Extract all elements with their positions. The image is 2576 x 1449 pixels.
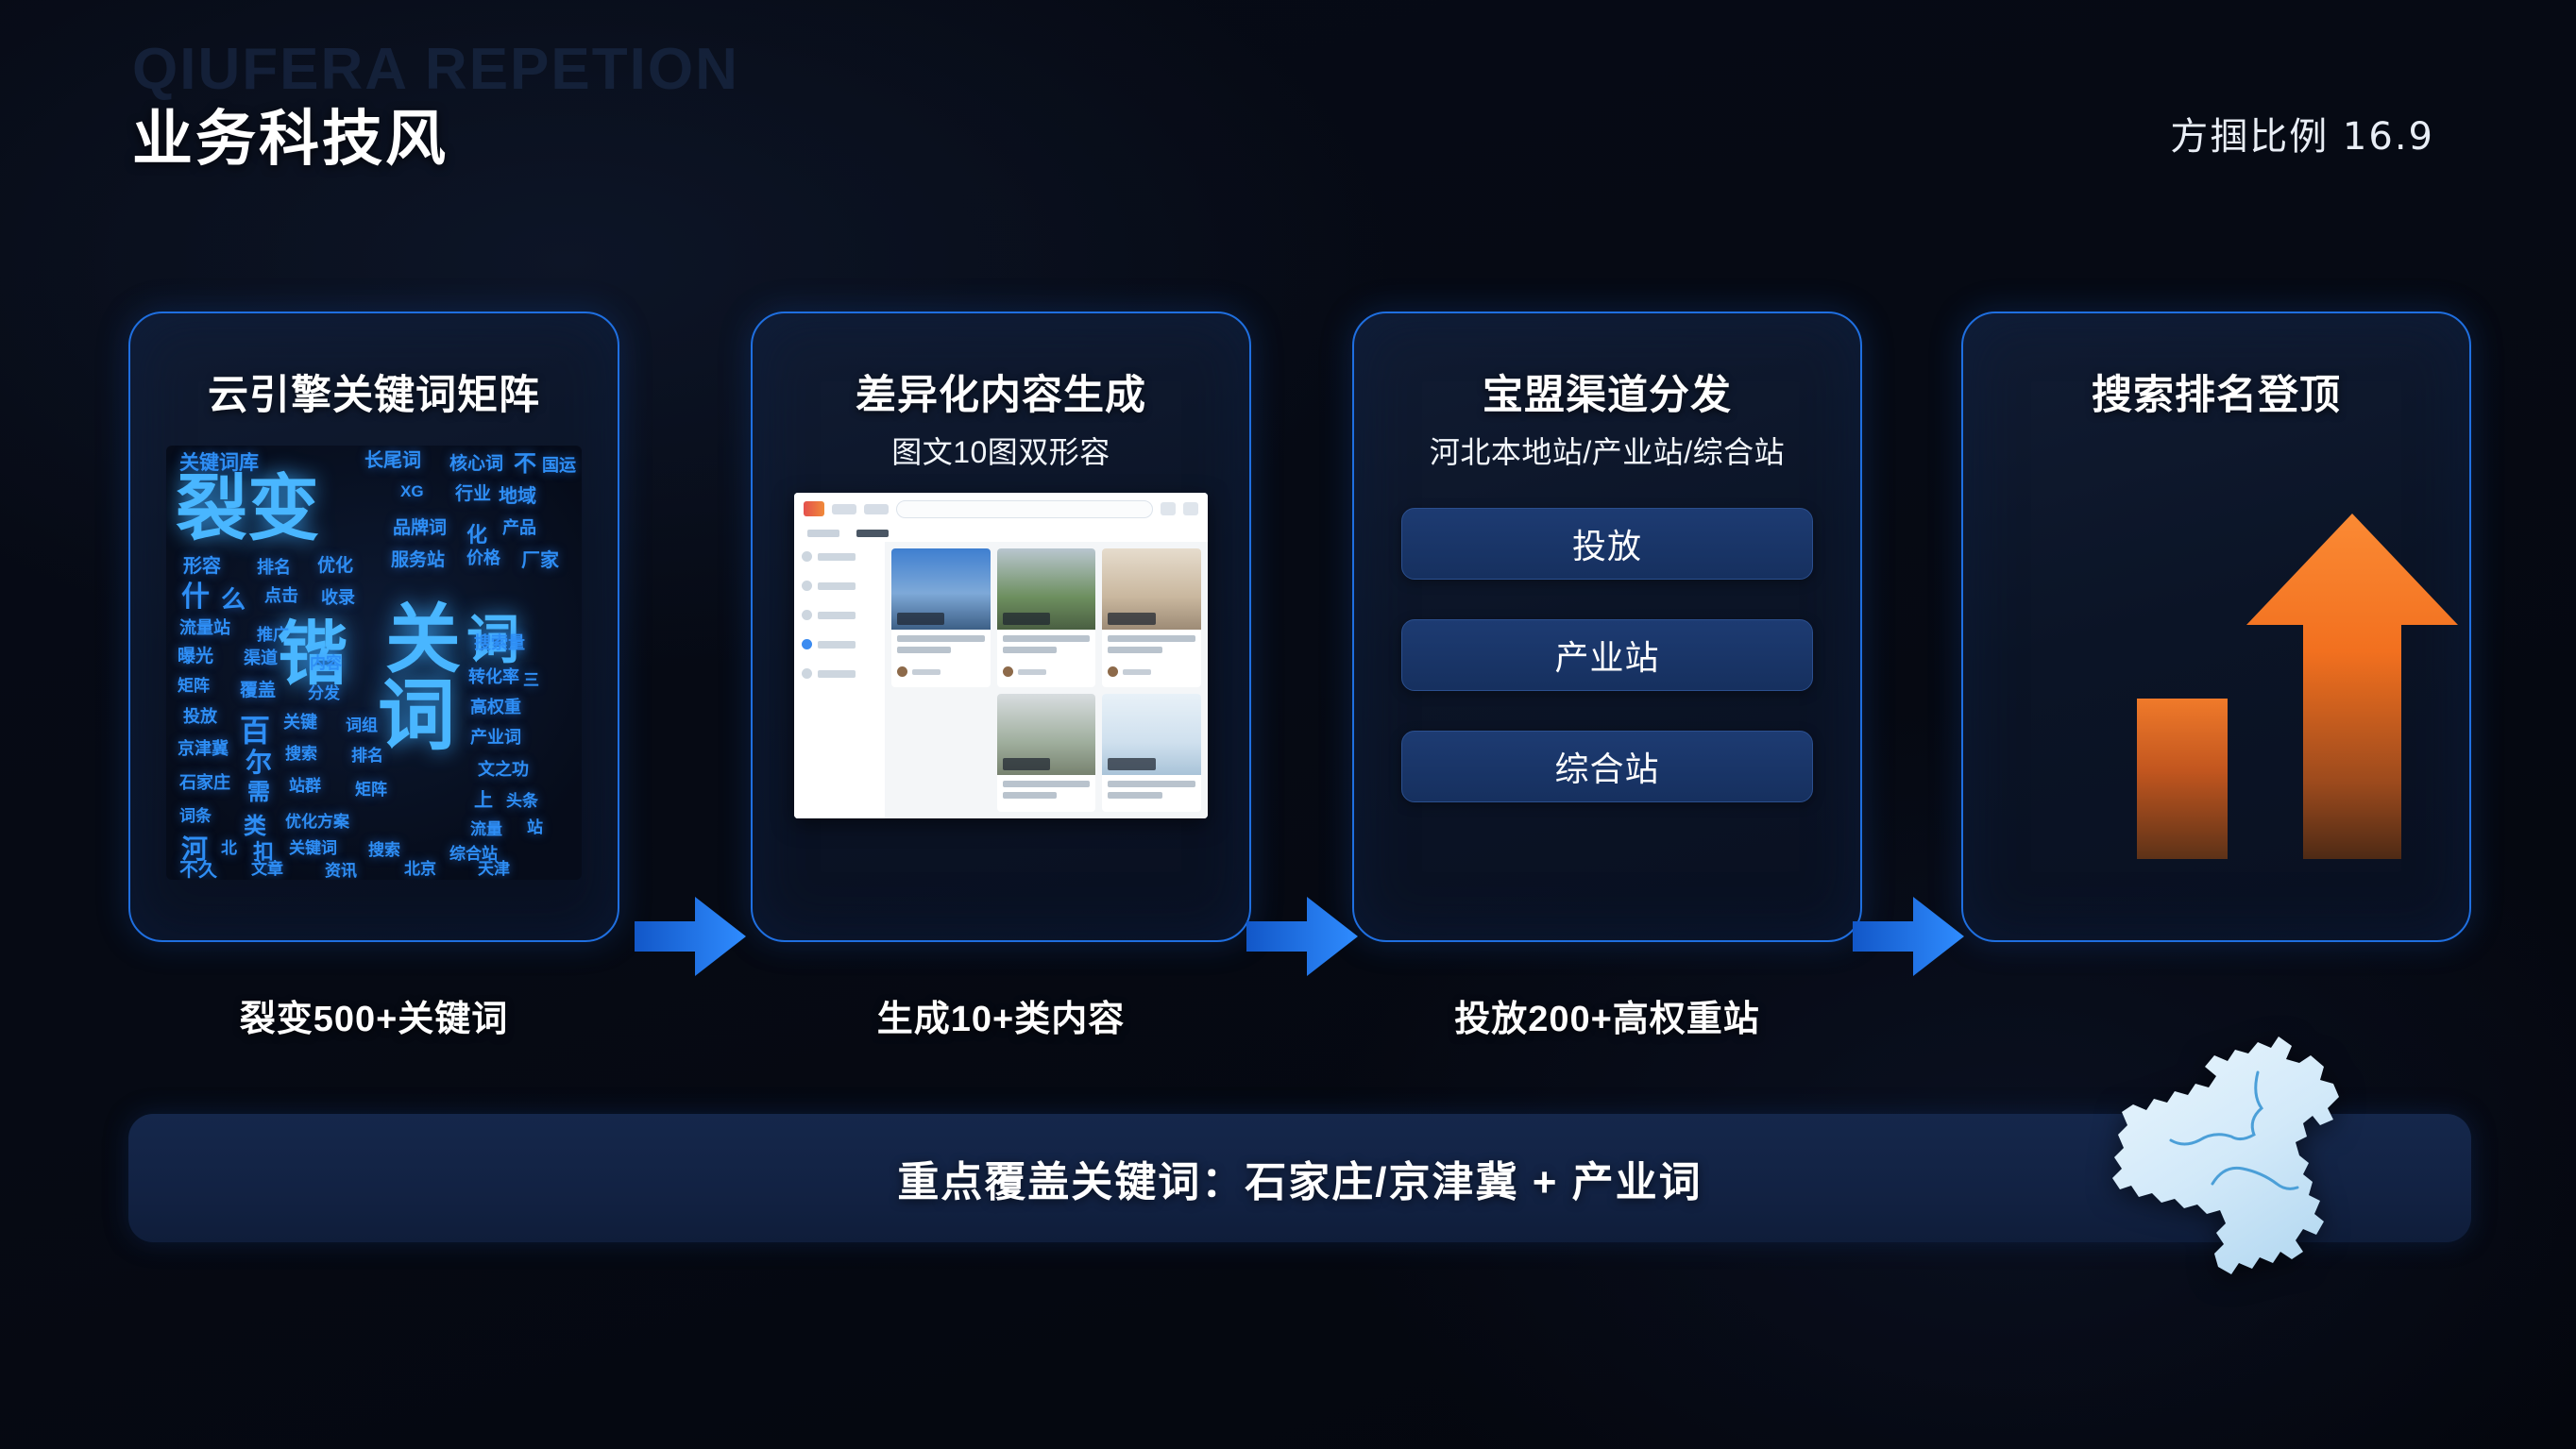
caption-content-generation: 生成10+类内容 xyxy=(751,989,1251,1041)
browser-tabs xyxy=(794,525,1208,542)
card-title: 宝盟渠道分发 xyxy=(1354,362,1860,421)
page-title: 业务科技风 xyxy=(132,91,449,177)
growth-arrow-up-icon xyxy=(2246,514,2458,859)
sidebar-item xyxy=(802,610,877,620)
channel-pill-general-site[interactable]: 综合站 xyxy=(1401,731,1813,802)
content-card-grid xyxy=(885,542,1208,818)
channel-pill-industry-site[interactable]: 产业站 xyxy=(1401,619,1813,691)
card-subtitle: 图文10图双形容 xyxy=(753,429,1249,472)
caption-keyword-matrix: 裂变500+关键词 xyxy=(128,989,619,1041)
aspect-ratio-label: 方掴比例 16.9 xyxy=(2170,106,2434,160)
growth-bar-small xyxy=(2137,699,2228,859)
sidebar-item xyxy=(802,551,877,562)
growth-chart-graphic xyxy=(1963,464,2469,880)
flow-arrow-right-icon-2 xyxy=(1246,897,1358,976)
site-logo-icon xyxy=(804,501,824,516)
content-card[interactable] xyxy=(1102,548,1201,687)
card-subtitle: 河北本地站/产业站/综合站 xyxy=(1354,429,1860,472)
sidebar-item xyxy=(802,639,877,649)
flow-arrow-right-icon-1 xyxy=(635,897,746,976)
menu-icon xyxy=(1183,502,1198,515)
content-card[interactable] xyxy=(1102,694,1201,813)
sidebar-item xyxy=(802,668,877,679)
content-card[interactable] xyxy=(891,548,991,687)
grid-spacer xyxy=(891,694,991,813)
browser-body xyxy=(794,542,1208,818)
keyword-coverage-banner: 重点覆盖关键词：石家庄/京津冀 + 产业词 xyxy=(128,1114,2471,1242)
card-channel-distribution[interactable]: 宝盟渠道分发 河北本地站/产业站/综合站 投放 产业站 综合站 xyxy=(1352,312,1862,942)
content-card[interactable] xyxy=(997,694,1096,813)
card-title: 差异化内容生成 xyxy=(753,362,1249,421)
flow-arrow-right-icon-3 xyxy=(1853,897,1964,976)
card-keyword-matrix[interactable]: 云引擎关键词矩阵 裂变 关 词 锴 词 关键词库 长尾词 核心词 不 国运 行业… xyxy=(128,312,619,942)
hebei-map-icon xyxy=(2073,1021,2356,1276)
user-avatar-icon xyxy=(1161,502,1176,515)
nav-pill-icon xyxy=(864,504,889,514)
search-input[interactable] xyxy=(896,500,1153,518)
keyword-wordcloud-image: 裂变 关 词 锴 词 关键词库 长尾词 核心词 不 国运 行业 地域 XG 品牌… xyxy=(166,446,582,880)
card-title: 搜索排名登顶 xyxy=(1963,362,2469,421)
tab-item-active[interactable] xyxy=(856,530,889,537)
caption-channel-distribution: 投放200+高权重站 xyxy=(1352,989,1862,1041)
content-preview-screenshot xyxy=(794,493,1208,818)
browser-sidebar xyxy=(794,542,885,818)
card-title: 云引擎关键词矩阵 xyxy=(130,362,618,421)
browser-toolbar xyxy=(794,493,1208,525)
card-search-ranking[interactable]: 搜索排名登顶 xyxy=(1961,312,2471,942)
sidebar-item xyxy=(802,581,877,591)
tab-item[interactable] xyxy=(807,530,839,537)
nav-pill-icon xyxy=(832,504,856,514)
channel-pill-delivery[interactable]: 投放 xyxy=(1401,508,1813,580)
card-content-generation[interactable]: 差异化内容生成 图文10图双形容 xyxy=(751,312,1251,942)
process-flow: 云引擎关键词矩阵 裂变 关 词 锴 词 关键词库 长尾词 核心词 不 国运 行业… xyxy=(0,312,2576,953)
content-card[interactable] xyxy=(997,548,1096,687)
